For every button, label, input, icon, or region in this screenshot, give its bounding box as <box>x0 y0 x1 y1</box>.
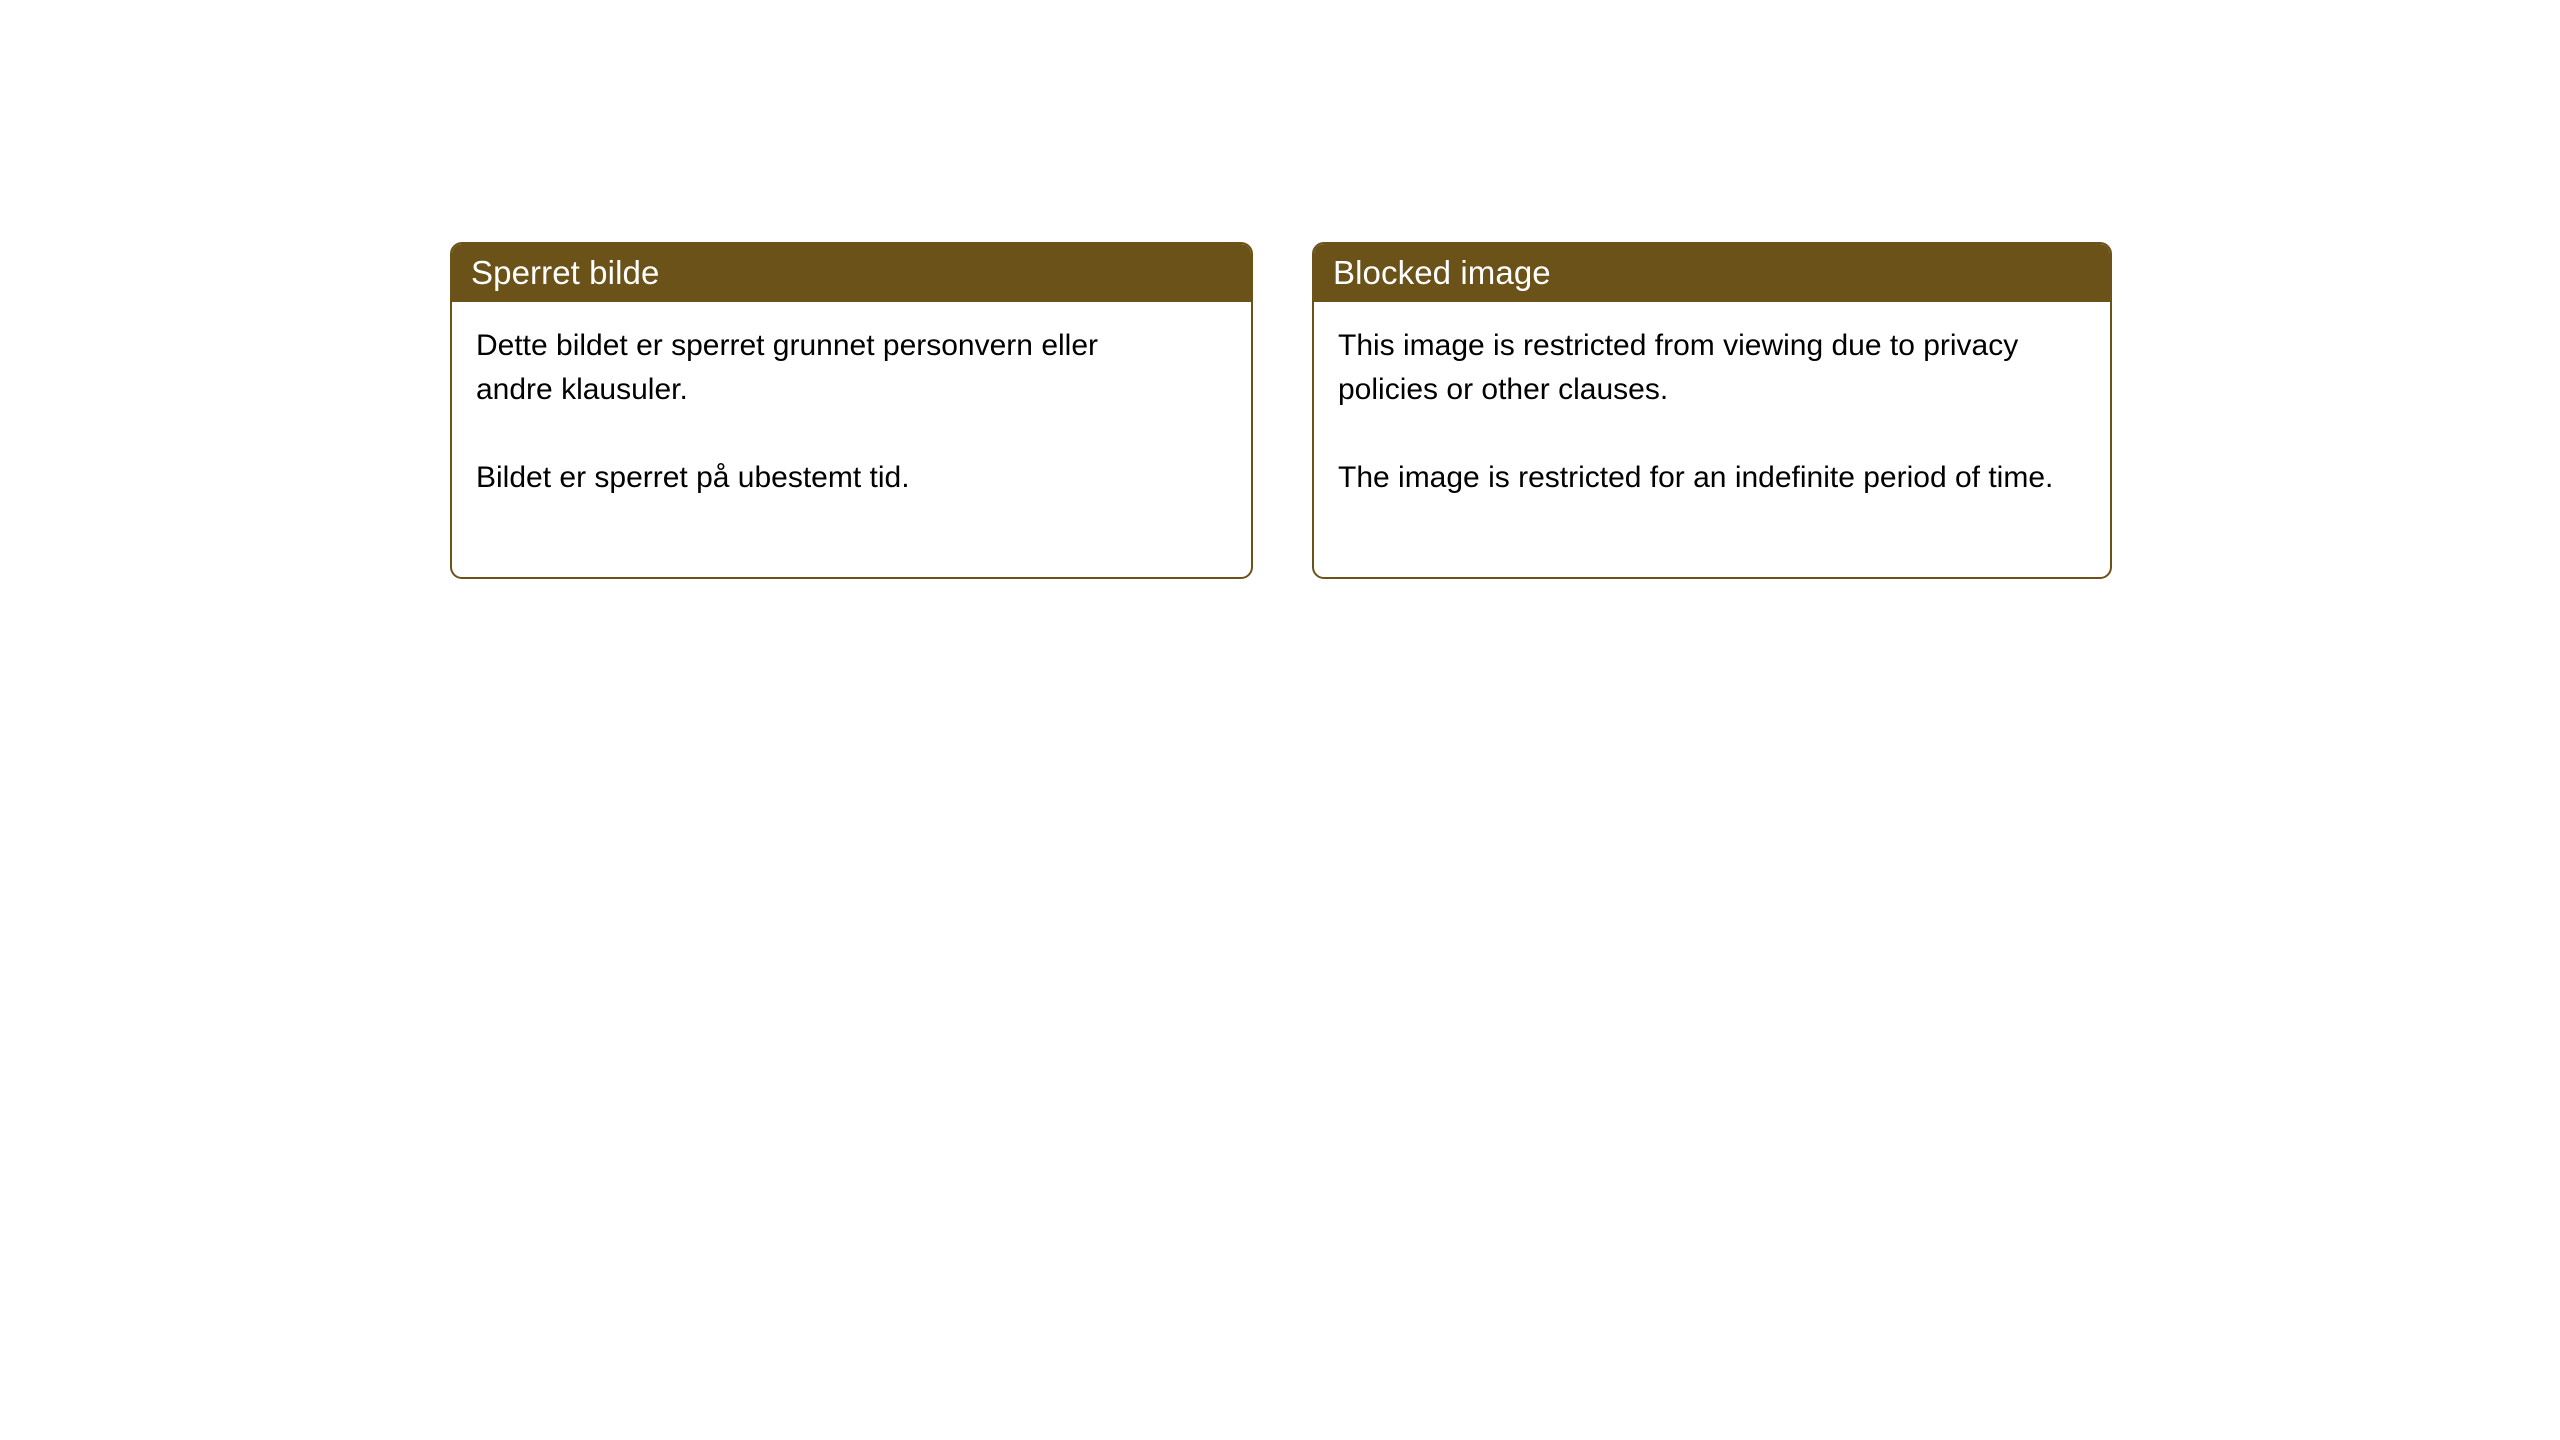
blocked-image-notice-container: Sperret bilde Dette bildet er sperret gr… <box>0 0 2560 1440</box>
card-body-norwegian: Dette bildet er sperret grunnet personve… <box>452 302 1251 500</box>
card-paragraph-norwegian-1: Dette bildet er sperret grunnet personve… <box>476 324 1176 412</box>
blocked-image-card-english: Blocked image This image is restricted f… <box>1312 242 2112 579</box>
card-header-english: Blocked image <box>1312 242 2112 302</box>
card-title-norwegian: Sperret bilde <box>471 256 659 289</box>
card-title-english: Blocked image <box>1333 256 1551 289</box>
card-body-english: This image is restricted from viewing du… <box>1314 302 2110 500</box>
card-paragraph-english-1: This image is restricted from viewing du… <box>1338 324 2078 412</box>
card-paragraph-norwegian-2: Bildet er sperret på ubestemt tid. <box>476 456 1176 500</box>
card-header-norwegian: Sperret bilde <box>450 242 1253 302</box>
card-paragraph-english-2: The image is restricted for an indefinit… <box>1338 456 2078 500</box>
blocked-image-card-norwegian: Sperret bilde Dette bildet er sperret gr… <box>450 242 1253 579</box>
